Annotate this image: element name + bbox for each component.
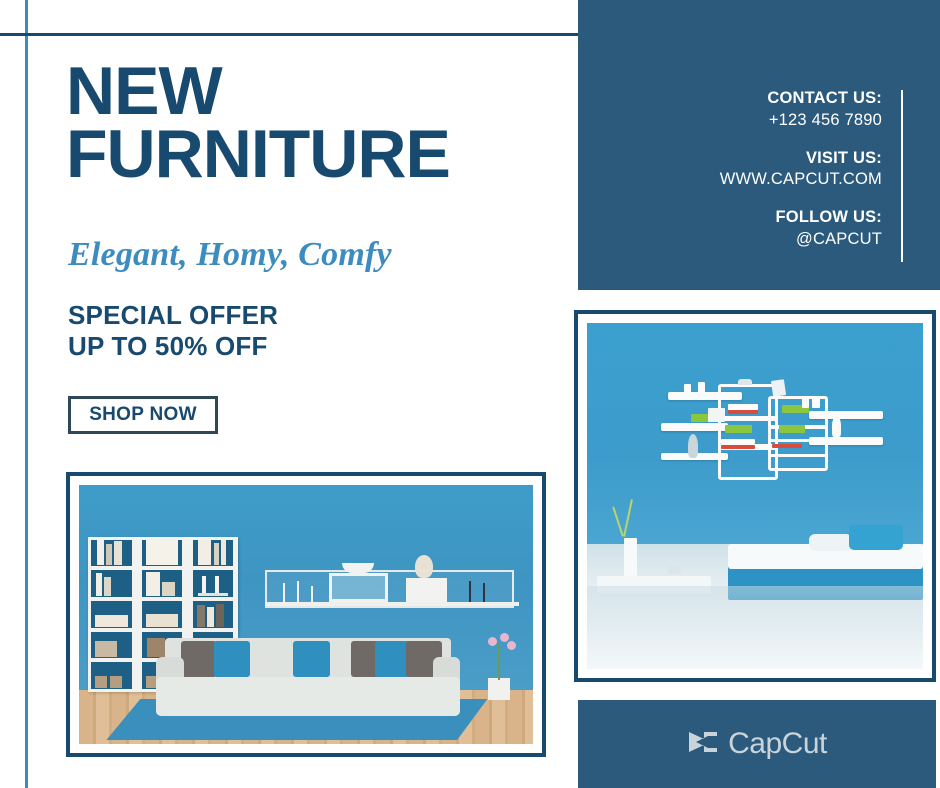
capcut-brand-bar: CapCut <box>578 700 936 788</box>
contact-group-phone: CONTACT US: +123 456 7890 <box>720 88 882 132</box>
shelf-book-red-2 <box>721 445 755 449</box>
pillow-blue-2 <box>293 641 330 677</box>
daybed-pillow-blue <box>849 525 903 549</box>
contact-divider-line <box>901 90 903 262</box>
living-room-image <box>79 485 533 744</box>
shelf-cup-3 <box>802 397 809 408</box>
capcut-hourglass-icon <box>687 729 719 760</box>
tagline: Elegant, Homy, Comfy <box>68 236 392 274</box>
contact-value-phone[interactable]: +123 456 7890 <box>720 110 882 132</box>
contact-group-social: FOLLOW US: @CAPCUT <box>720 207 882 251</box>
floor-reflection <box>587 586 923 669</box>
shelf-book-green-3 <box>725 425 752 433</box>
shelf-vase-silver <box>688 434 698 458</box>
poster-canvas: CONTACT US: +123 456 7890 VISIT US: WWW.… <box>0 0 940 788</box>
contact-value-social[interactable]: @CAPCUT <box>720 229 882 251</box>
shelf-book-red-1 <box>728 410 758 414</box>
sofa <box>156 638 460 723</box>
shelf-vase-white <box>832 416 840 437</box>
shelf-book-white-1 <box>728 404 758 410</box>
wall-shelf-board <box>265 602 519 606</box>
pillow-blue-1 <box>214 641 251 677</box>
minimal-room-image-frame <box>574 310 936 682</box>
shelf-candle-2 <box>297 581 299 602</box>
shelf-cup-1 <box>684 384 691 394</box>
contact-label-website: VISIT US: <box>720 148 882 170</box>
shelf-books-upright <box>708 408 725 422</box>
headline: NEW FURNITURE <box>66 60 566 185</box>
shelf-picture-frame <box>771 379 786 396</box>
special-offer-block: SPECIAL OFFER UP TO 50% OFF <box>68 300 278 362</box>
shop-now-button[interactable]: SHOP NOW <box>68 396 218 434</box>
daybed-pillow-white <box>809 534 853 551</box>
offer-line-2: UP TO 50% OFF <box>68 331 278 362</box>
shelf-bowl-top <box>738 379 751 385</box>
living-room-image-frame <box>66 472 546 757</box>
orchid-plant <box>479 633 520 700</box>
sofa-seat <box>156 677 460 716</box>
contact-label-phone: CONTACT US: <box>720 88 882 110</box>
headline-line-2: FURNITURE <box>66 123 566 186</box>
capcut-wordmark: CapCut <box>728 727 827 761</box>
shelf-book-red-3 <box>772 444 802 448</box>
shelf-cabinet <box>406 578 447 601</box>
contact-value-website[interactable]: WWW.CAPCUT.COM <box>720 169 882 191</box>
shelf-candle-3 <box>311 586 313 602</box>
shelf-vase-tall <box>415 555 433 578</box>
minimal-room-image <box>587 323 923 669</box>
offer-line-1: SPECIAL OFFER <box>68 300 278 331</box>
plant-pot <box>488 678 511 700</box>
contact-details: CONTACT US: +123 456 7890 VISIT US: WWW.… <box>720 88 882 251</box>
floor-vase <box>624 538 637 576</box>
plant-stem <box>498 643 500 680</box>
headline-line-1: NEW <box>66 60 566 123</box>
contact-label-social: FOLLOW US: <box>720 207 882 229</box>
shelf-book-green-4 <box>779 425 806 433</box>
contact-group-website: VISIT US: WWW.CAPCUT.COM <box>720 148 882 192</box>
shelf-cup-2 <box>698 382 705 394</box>
shelf-cup-4 <box>812 396 819 408</box>
shelf-candle-1 <box>283 583 285 601</box>
table-object <box>668 565 681 574</box>
pillow-grey-1 <box>181 641 218 677</box>
shelf-candle-5 <box>483 583 485 601</box>
shelf-book-white-2 <box>721 439 755 445</box>
shelf-candle-4 <box>469 581 471 602</box>
vertical-accent-rule <box>25 0 28 788</box>
shelf-box-center <box>329 573 388 601</box>
